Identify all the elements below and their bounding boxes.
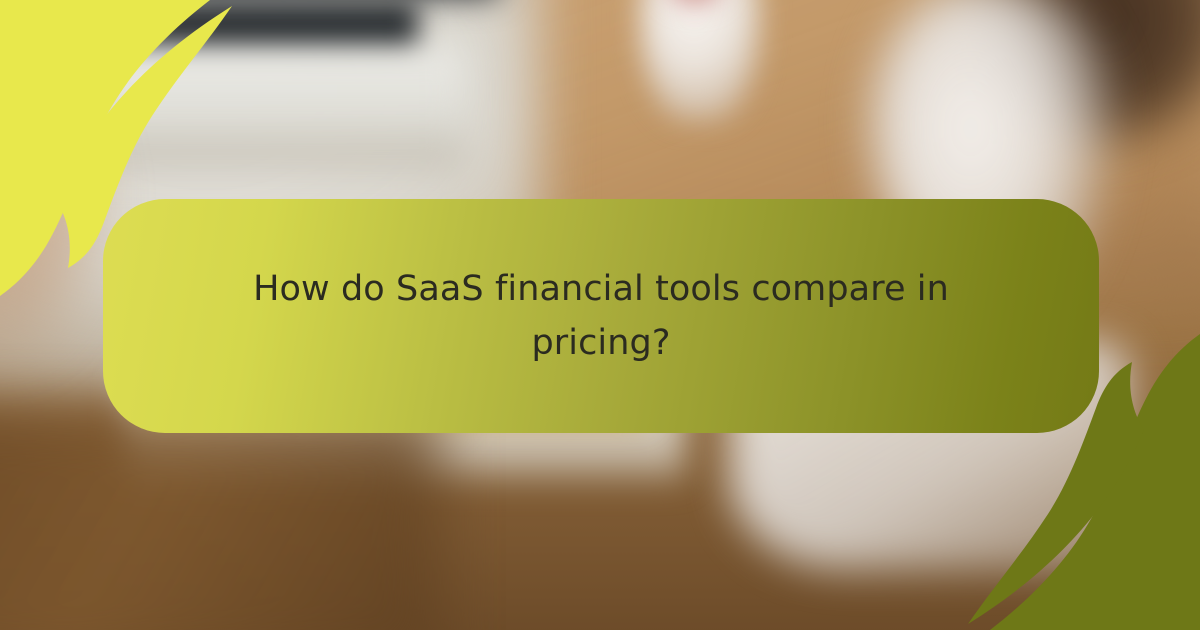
headline-card: How do SaaS financial tools compare in p… — [103, 199, 1099, 433]
social-card-canvas: How do SaaS financial tools compare in p… — [0, 0, 1200, 630]
bg-foreground-wood — [0, 410, 440, 630]
page-title: How do SaaS financial tools compare in p… — [241, 262, 961, 371]
bg-laptop-screen — [58, 2, 418, 54]
bg-laptop-body — [36, 48, 466, 168]
